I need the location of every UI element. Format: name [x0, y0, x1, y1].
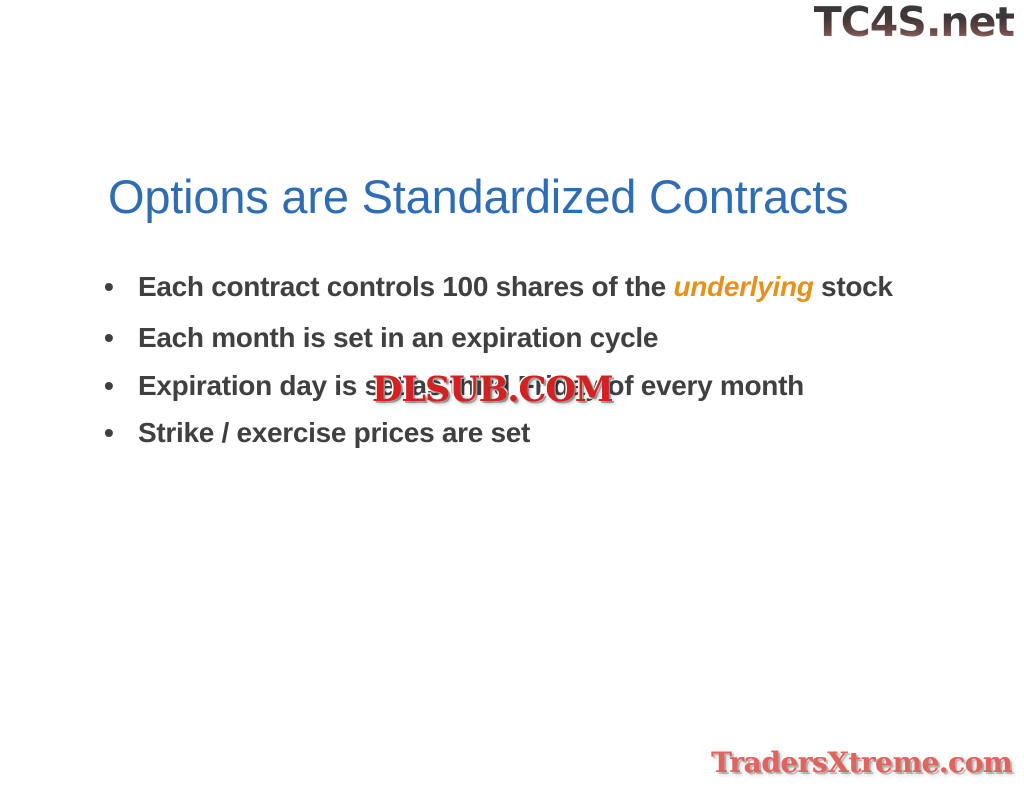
dlsub-watermark-fill: DLSUB.COM: [372, 369, 613, 410]
bullet-item-1: • Each contract controls 100 shares of t…: [98, 268, 928, 306]
bullet-text-1-emphasis: underlying: [673, 271, 813, 302]
dlsub-watermark: DLSUB.COM DLSUB.COM: [372, 369, 613, 410]
bullet-dot-icon: •: [104, 414, 114, 452]
tc4s-brand-logo: TC4S.net: [814, 2, 1014, 43]
bullet-dot-icon: •: [104, 367, 114, 405]
bullet-item-2: • Each month is set in an expiration cyc…: [98, 319, 928, 357]
bullet-dot-icon: •: [104, 319, 114, 357]
bullet-text-1-after: stock: [814, 271, 893, 302]
bullet-dot-icon: •: [104, 268, 114, 306]
bullet-list: • Each contract controls 100 shares of t…: [98, 268, 928, 461]
presentation-slide: TC4S.net Options are Standardized Contra…: [0, 0, 1024, 791]
tradersxtreme-watermark: TradersXtreme.com TradersXtreme.com: [711, 746, 1012, 779]
bullet-text-1-before: Each contract controls 100 shares of the: [138, 271, 673, 302]
bullet-text-2: Each month is set in an expiration cycle: [138, 322, 658, 353]
bullet-item-4: • Strike / exercise prices are set: [98, 414, 928, 452]
slide-title: Options are Standardized Contracts: [108, 169, 848, 224]
tradersxtreme-watermark-fill: TradersXtreme.com: [711, 746, 1012, 779]
bullet-text-4: Strike / exercise prices are set: [138, 417, 530, 448]
